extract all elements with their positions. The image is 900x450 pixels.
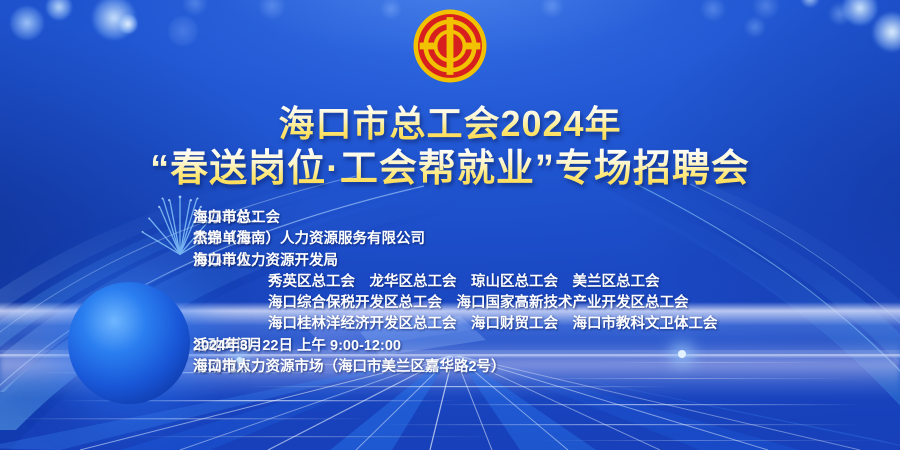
- info-row-time: 活动时间： 2024年3月22日 上午 9:00-12:00: [0, 336, 900, 357]
- title-line-2: “春送岗位·工会帮就业”专场招聘会: [0, 148, 900, 191]
- host-value: 杰锦（海南）人力资源服务有限公司: [193, 229, 425, 250]
- coorganizer-list-item: 海口桂林洋经济开发区总工会 海口财贸工会 海口市教科文卫体工会: [268, 314, 718, 335]
- indent-spacer: [0, 293, 268, 314]
- organizer-value: 海口市总工会: [193, 208, 280, 229]
- recruitment-poster: 海口市总工会2024年 “春送岗位·工会帮就业”专场招聘会: [0, 0, 900, 450]
- info-row-host: 承办单位： 杰锦（海南）人力资源服务有限公司: [0, 229, 900, 250]
- coorganizer-list-row-1: 秀英区总工会 龙华区总工会 琼山区总工会 美兰区总工会: [0, 272, 900, 293]
- coorganizer-list-item: 秀英区总工会 龙华区总工会 琼山区总工会 美兰区总工会: [268, 272, 660, 293]
- coorganizer-list-item: 海口综合保税开发区总工会 海口国家高新技术产业开发区总工会: [268, 293, 689, 314]
- union-emblem: [412, 8, 488, 89]
- coorganizer-list-row-2: 海口综合保税开发区总工会 海口国家高新技术产业开发区总工会: [0, 293, 900, 314]
- coorganizer-list-row-3: 海口桂林洋经济开发区总工会 海口财贸工会 海口市教科文卫体工会: [0, 314, 900, 335]
- acftu-union-emblem: [412, 8, 488, 84]
- indent-spacer: [0, 272, 268, 293]
- info-row-place: 活动地点： 海口市人力资源市场（海口市美兰区嘉华路2号）: [0, 357, 900, 378]
- event-place-value: 海口市人力资源市场（海口市美兰区嘉华路2号）: [193, 357, 506, 378]
- title-line-1: 海口市总工会2024年: [0, 104, 900, 144]
- poster-title: 海口市总工会2024年 “春送岗位·工会帮就业”专场招聘会: [0, 104, 900, 191]
- info-row-coorganizer: 协办单位： 海口市人力资源开发局: [0, 251, 900, 272]
- info-row-organizer: 主办单位： 海口市总工会: [0, 208, 900, 229]
- indent-spacer: [0, 314, 268, 335]
- event-time-value: 2024年3月22日 上午 9:00-12:00: [193, 336, 401, 357]
- coorganizer-value: 海口市人力资源开发局: [193, 251, 338, 272]
- event-info-block: 主办单位： 海口市总工会 承办单位： 杰锦（海南）人力资源服务有限公司 协办单位…: [0, 208, 900, 378]
